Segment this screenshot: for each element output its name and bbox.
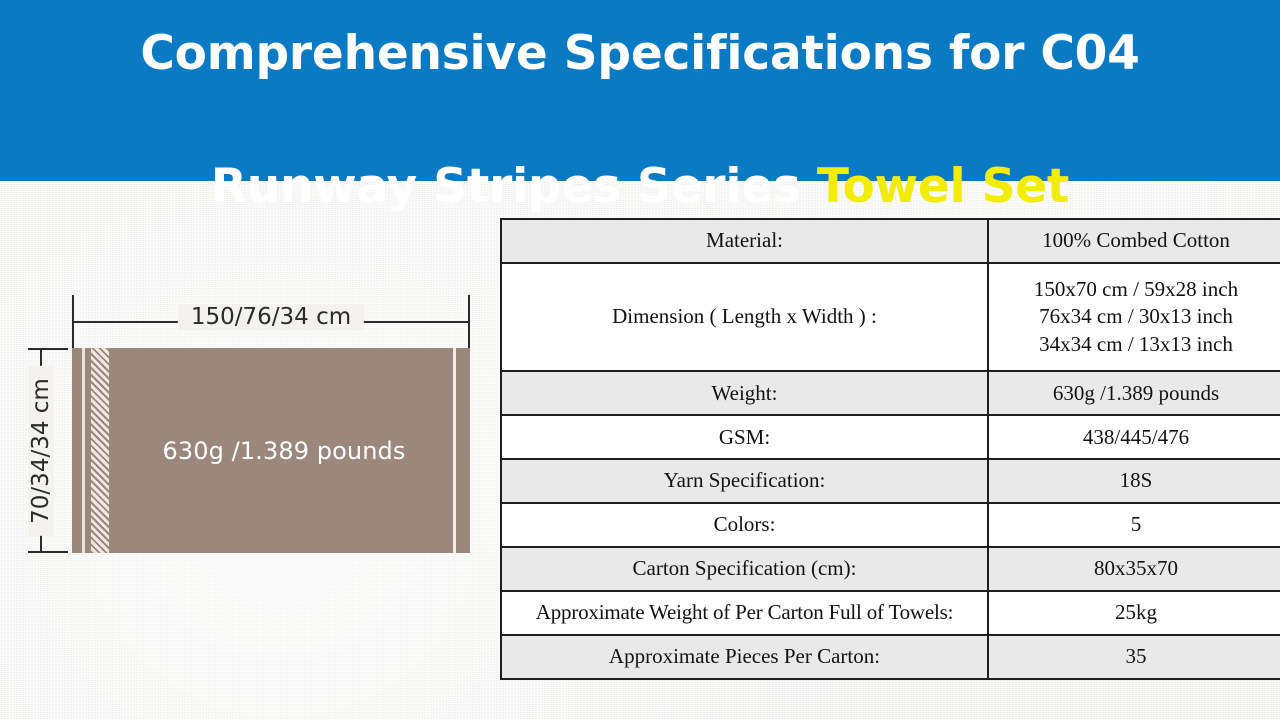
spec-value-material: 100% Combed Cotton (988, 219, 1280, 263)
table-row: Colors: 5 (501, 503, 1280, 547)
spec-value-gsm: 438/445/476 (988, 415, 1280, 459)
table-row: Carton Specification (cm): 80x35x70 (501, 547, 1280, 591)
towel-illustration: 630g /1.389 pounds (72, 348, 470, 553)
spec-label-carton-weight: Approximate Weight of Per Carton Full of… (501, 591, 988, 635)
title-line-2-accent: Towel Set (817, 159, 1069, 214)
spec-label-weight: Weight: (501, 371, 988, 415)
spec-value-dimension: 150x70 cm / 59x28 inch 76x34 cm / 30x13 … (988, 263, 1280, 371)
width-dimension-line: 150/76/34 cm (72, 321, 470, 323)
dimension-tick-left (72, 295, 74, 349)
table-row: GSM: 438/445/476 (501, 415, 1280, 459)
specification-table-body: Material: 100% Combed Cotton Dimension (… (501, 219, 1280, 679)
spec-value-carton-specification: 80x35x70 (988, 547, 1280, 591)
dimension-tick-right (468, 295, 470, 349)
spec-label-dimension: Dimension ( Length x Width ) : (501, 263, 988, 371)
towel-diagram: 150/76/34 cm 70/34/34 cm 630g /1.389 pou… (0, 181, 500, 720)
spec-value-carton-weight: 25kg (988, 591, 1280, 635)
header-banner: Comprehensive Specifications for C04 Run… (0, 0, 1280, 181)
title-line-1: Comprehensive Specifications for C04 (140, 26, 1139, 81)
specification-table: Material: 100% Combed Cotton Dimension (… (500, 218, 1280, 680)
spec-label-gsm: GSM: (501, 415, 988, 459)
dimension-tick-top (28, 348, 68, 350)
spec-label-pieces-per-carton: Approximate Pieces Per Carton: (501, 635, 988, 679)
table-row: Material: 100% Combed Cotton (501, 219, 1280, 263)
specification-table-container: Material: 100% Combed Cotton Dimension (… (500, 218, 1255, 680)
table-row: Dimension ( Length x Width ) : 150x70 cm… (501, 263, 1280, 371)
table-row: Approximate Weight of Per Carton Full of… (501, 591, 1280, 635)
spec-value-yarn-specification: 18S (988, 459, 1280, 503)
spec-value-weight: 630g /1.389 pounds (988, 371, 1280, 415)
table-row: Yarn Specification: 18S (501, 459, 1280, 503)
spec-label-material: Material: (501, 219, 988, 263)
spec-label-carton-specification: Carton Specification (cm): (501, 547, 988, 591)
spec-value-pieces-per-carton: 35 (988, 635, 1280, 679)
table-row: Approximate Pieces Per Carton: 35 (501, 635, 1280, 679)
dimension-tick-bottom (28, 551, 68, 553)
spec-value-colors: 5 (988, 503, 1280, 547)
page-background: Comprehensive Specifications for C04 Run… (0, 0, 1280, 720)
spec-label-colors: Colors: (501, 503, 988, 547)
width-dimension-label: 150/76/34 cm (178, 304, 364, 330)
height-dimension-line: 70/34/34 cm (40, 348, 42, 553)
towel-weight-label: 630g /1.389 pounds (72, 437, 470, 465)
height-dimension-label: 70/34/34 cm (28, 366, 54, 536)
spec-label-yarn-specification: Yarn Specification: (501, 459, 988, 503)
table-row: Weight: 630g /1.389 pounds (501, 371, 1280, 415)
